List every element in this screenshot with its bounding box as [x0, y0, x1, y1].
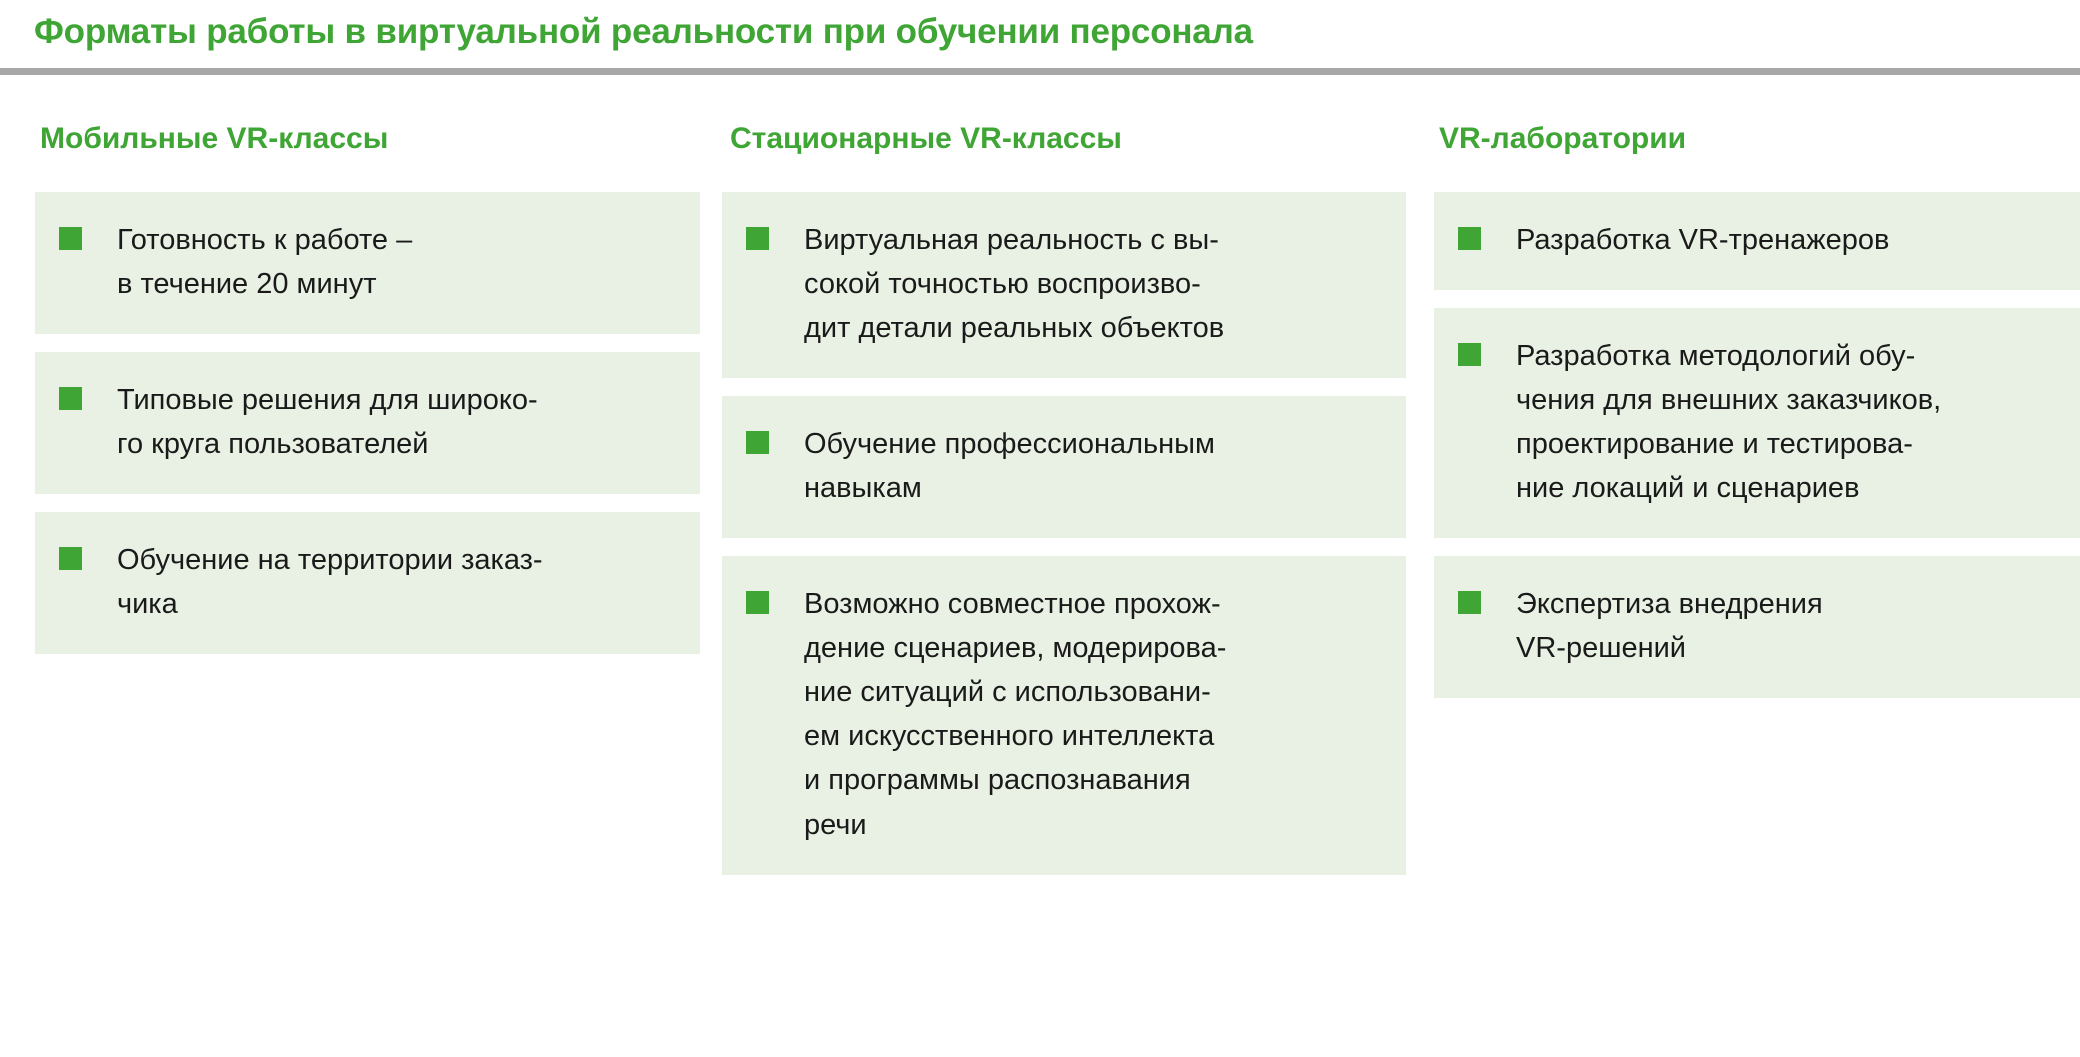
list-item-text: Виртуальная реальность с вы- сокой точно… — [804, 218, 1384, 350]
list-item-text: Разработка методологий обу- чения для вн… — [1516, 334, 2064, 510]
square-bullet-icon — [59, 547, 82, 570]
title-divider — [0, 68, 2080, 75]
column-heading: Стационарные VR-классы — [730, 121, 1406, 157]
square-bullet-icon — [59, 227, 82, 250]
list-item-text: Готовность к работе – в течение 20 минут — [117, 218, 678, 306]
square-bullet-icon — [59, 387, 82, 410]
list-item[interactable]: Возможно совместное прохож- дение сценар… — [722, 556, 1406, 874]
page-title: Форматы работы в виртуальной реальности … — [34, 10, 2080, 54]
square-bullet-icon — [1458, 591, 1481, 614]
list-item[interactable]: Виртуальная реальность с вы- сокой точно… — [722, 192, 1406, 378]
list-item[interactable]: Экспертиза внедрения VR-решений — [1434, 556, 2080, 698]
square-bullet-icon — [1458, 343, 1481, 366]
list-item-text: Разработка VR-тренажеров — [1516, 218, 2064, 262]
square-bullet-icon — [1458, 227, 1481, 250]
list-item[interactable]: Разработка VR-тренажеров — [1434, 192, 2080, 290]
column-vr-laboratories: VR-лаборатории Разработка VR-тренажеров … — [1406, 121, 2080, 717]
list-item[interactable]: Готовность к работе – в течение 20 минут — [35, 192, 700, 334]
list-item[interactable]: Разработка методологий обу- чения для вн… — [1434, 308, 2080, 538]
list-item[interactable]: Обучение на территории заказ- чика — [35, 512, 700, 654]
list-item-text: Обучение профессиональным навыкам — [804, 422, 1384, 510]
list-item-text: Обучение на территории заказ- чика — [117, 538, 678, 626]
column-stationary-vr-classes: Стационарные VR-классы Виртуальная реаль… — [700, 121, 1406, 893]
list-item-text: Экспертиза внедрения VR-решений — [1516, 582, 2064, 670]
list-item[interactable]: Типовые решения для широко- го круга пол… — [35, 352, 700, 494]
column-mobile-vr-classes: Мобильные VR-классы Готовность к работе … — [0, 121, 700, 672]
column-heading: Мобильные VR-классы — [40, 121, 700, 157]
list-item-text: Типовые решения для широко- го круга пол… — [117, 378, 678, 466]
list-item[interactable]: Обучение профессиональным навыкам — [722, 396, 1406, 538]
column-heading: VR-лаборатории — [1439, 121, 2080, 157]
columns-container: Мобильные VR-классы Готовность к работе … — [0, 121, 2080, 893]
list-item-text: Возможно совместное прохож- дение сценар… — [804, 582, 1384, 846]
square-bullet-icon — [746, 227, 769, 250]
square-bullet-icon — [746, 431, 769, 454]
square-bullet-icon — [746, 591, 769, 614]
slide-header: Форматы работы в виртуальной реальности … — [0, 0, 2080, 54]
